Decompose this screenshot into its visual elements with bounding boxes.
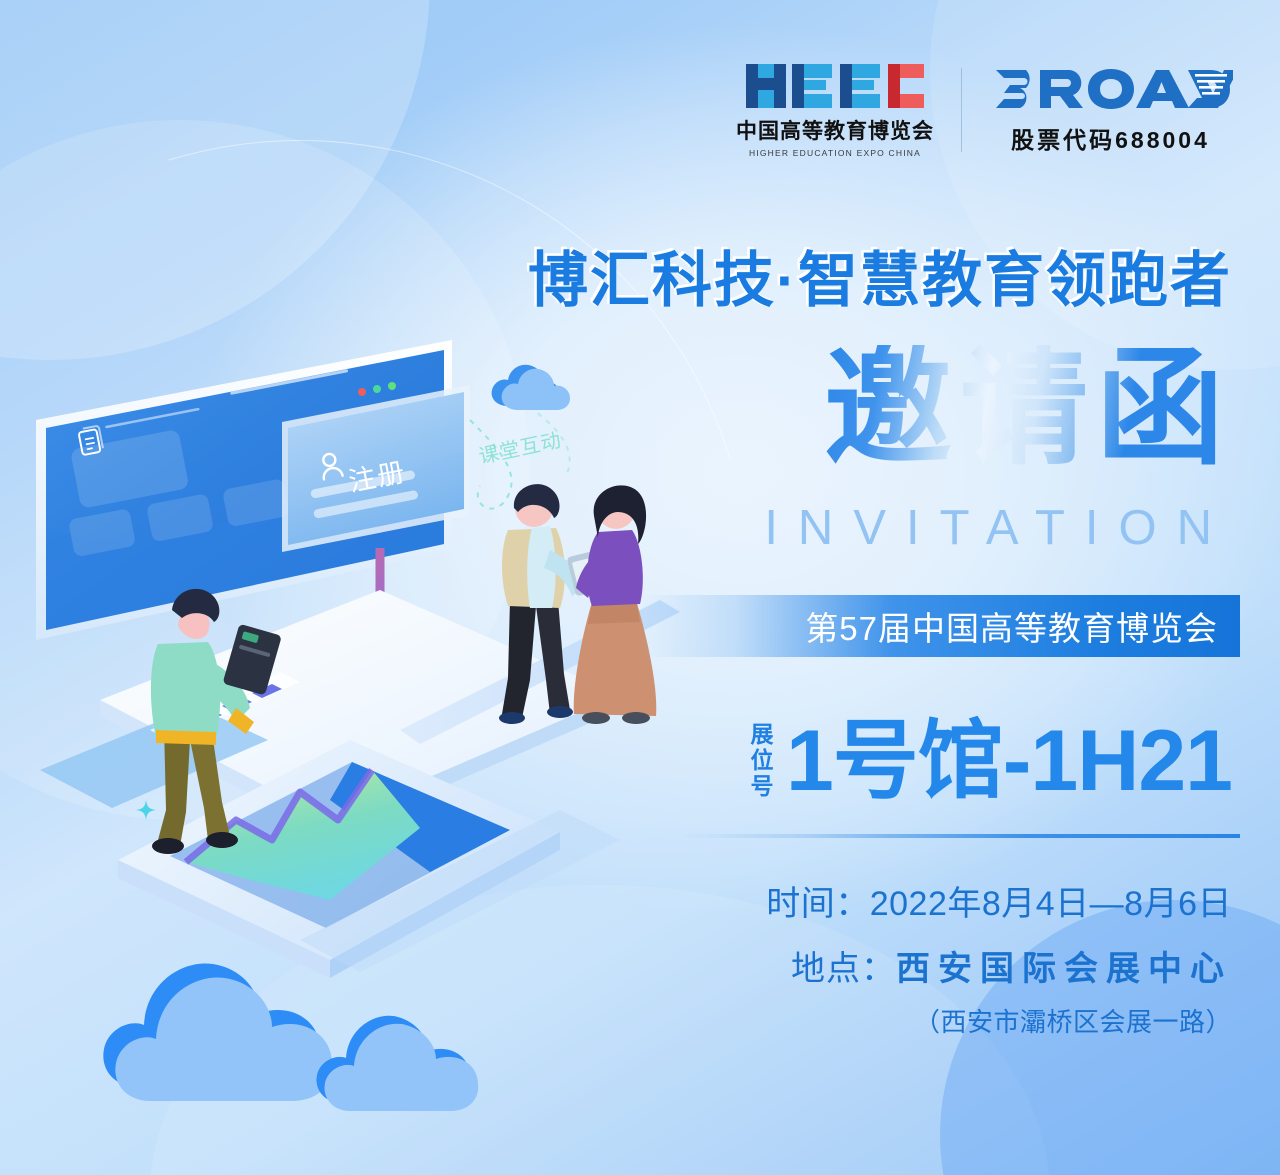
booth-row: 展位号 1号馆-1H21: [747, 718, 1232, 804]
expo-banner-text: 第57届中国高等教育博览会: [805, 602, 1240, 650]
two-people-talking: [499, 484, 656, 724]
booth-divider-rule: [680, 834, 1240, 838]
page-title: 博汇科技·智慧教育领跑者: [528, 232, 1232, 319]
booth-label: 展位号: [747, 722, 772, 800]
heec-chinese-name: 中国高等教育博览会: [736, 115, 934, 145]
heec-logo: 中国高等教育博览会 HIGHER EDUCATION EXPO CHINA: [735, 62, 935, 158]
broadv-logo-mark: [988, 66, 1233, 112]
event-place: 地点：西安国际会展中心: [766, 941, 1232, 990]
expo-banner: 第57届中国高等教育博览会: [640, 595, 1240, 657]
event-place-value: 西安国际会展中心: [896, 950, 1232, 988]
event-time: 时间：2022年8月4日—8月6日: [766, 876, 1232, 925]
hero-illustration: 注册 课堂互动: [0, 300, 680, 980]
clouds-icon: [90, 955, 510, 1135]
header-logos: 中国高等教育博览会 HIGHER EDUCATION EXPO CHINA: [735, 55, 1245, 165]
sparkle-icon: [136, 800, 156, 820]
invitation-english: INVITATION: [744, 500, 1232, 556]
event-place-label: 地点：: [791, 950, 896, 988]
heec-logo-mark: [744, 62, 926, 112]
broadv-logo: 股票代码688004: [988, 66, 1233, 155]
heec-english-name: HIGHER EDUCATION EXPO CHINA: [749, 148, 921, 158]
event-time-label: 时间：: [766, 885, 870, 923]
poster-canvas: 注册 课堂互动: [0, 0, 1280, 1175]
logo-divider: [961, 68, 962, 152]
cloud-icon: [492, 365, 570, 410]
event-address: （西安市灞桥区会展一路）: [766, 1002, 1232, 1039]
event-info: 时间：2022年8月4日—8月6日 地点：西安国际会展中心 （西安市灞桥区会展一…: [766, 876, 1232, 1039]
event-time-value: 2022年8月4日—8月6日: [870, 885, 1232, 923]
broadv-stock-code: 股票代码688004: [1011, 121, 1210, 155]
invitation-chinese: 邀请函: [824, 345, 1232, 473]
booth-value: 1号馆-1H21: [786, 718, 1232, 804]
